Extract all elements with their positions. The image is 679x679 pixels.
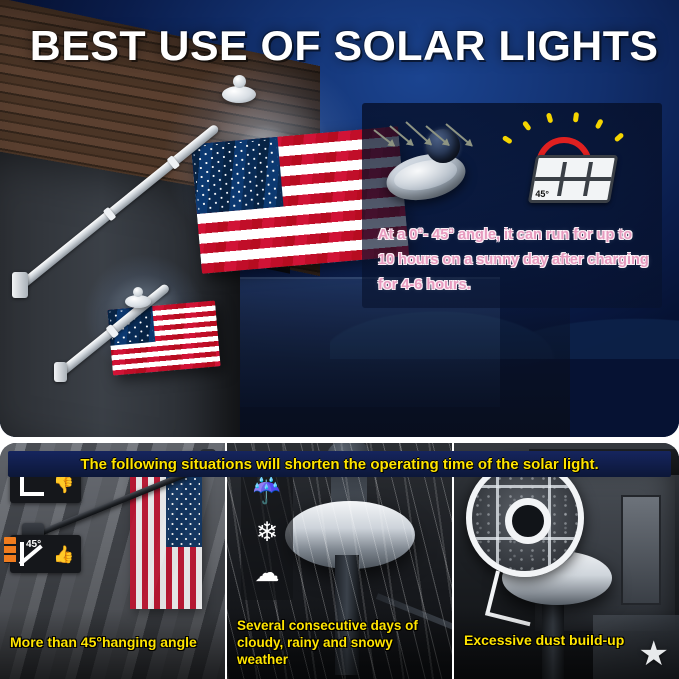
sun-ray: [614, 132, 625, 142]
center-ring: [505, 498, 551, 544]
sun-ray: [502, 135, 513, 145]
warning-banner-text: The following situations will shorten th…: [80, 456, 598, 473]
info-description: At a 0°- 45° angle, it can run for up to…: [378, 223, 650, 298]
hero-section: BEST USE OF SOLAR LIGHTS: [0, 0, 679, 437]
weather-icon-group: ☔ ❄ ☁: [241, 465, 293, 600]
solar-light-head-large: [222, 86, 256, 103]
panel-caption-2-line2: cloudy, rainy and snowy weather: [237, 635, 444, 669]
flag-wave-shading: [107, 300, 220, 375]
panel-caption-2-line1: Several consecutive days of: [237, 618, 444, 635]
panel-angle-label: 45°: [535, 189, 549, 199]
sun-solar-panel-icon: 45°: [512, 115, 632, 207]
solar-light-head-small: [125, 295, 151, 308]
solar-light-disc-icon: [380, 119, 485, 211]
panel-caption-2: Several consecutive days of cloudy, rain…: [237, 618, 444, 669]
situation-panels: 90° 👎 45° 👍 More than 45°hanging angle: [0, 443, 679, 679]
us-flag-small: [107, 300, 220, 375]
thumbs-up-icon: 👍: [53, 546, 74, 563]
panel-caption-3: Excessive dust build-up: [464, 632, 633, 650]
sun-ray: [573, 112, 579, 123]
sun-ray: [595, 118, 604, 129]
cloud-icon: ☁: [255, 561, 280, 586]
panel-dust-buildup: Excessive dust build-up ★: [454, 443, 679, 679]
infographic-page: BEST USE OF SOLAR LIGHTS: [0, 0, 679, 679]
finial-ball: [233, 75, 246, 88]
wall-bracket-small: [54, 362, 67, 382]
warning-banner: The following situations will shorten th…: [8, 451, 671, 477]
finial-ball: [133, 287, 143, 297]
panel-hanging-angle: 90° 👎 45° 👍 More than 45°hanging angle: [0, 443, 225, 679]
badge-45-degree: 45° 👍: [10, 535, 81, 573]
panel-bad-weather: ☔ ❄ ☁ Several consecutive days of cloudy…: [227, 443, 452, 679]
thumbs-down-icon: 👎: [53, 476, 74, 493]
acute-angle-icon: 45°: [17, 540, 47, 568]
wall-bracket-large: [12, 272, 28, 298]
brick-wall-icon: [4, 537, 16, 563]
panel-divider-horizontal: [535, 177, 612, 181]
sun-ray: [546, 112, 554, 123]
page-title: BEST USE OF SOLAR LIGHTS: [30, 22, 662, 70]
panel-caption-1: More than 45°hanging angle: [10, 634, 217, 652]
star-icon: ★: [639, 637, 669, 671]
solar-panel-tilt-icon: 45°: [528, 155, 618, 203]
front-door: [621, 495, 661, 605]
sun-ray-arrow: [373, 129, 395, 147]
rain-cloud-icon: ☔: [251, 479, 282, 504]
info-panel: 45° At a 0°- 45° angle, it can run for u…: [362, 103, 662, 308]
angle-label-45: 45°: [26, 539, 41, 550]
angle-horizontal-line: [20, 492, 44, 496]
snowflake-icon: ❄: [256, 519, 279, 546]
bottom-section: 90° 👎 45° 👍 More than 45°hanging angle: [0, 443, 679, 679]
sun-ray: [522, 120, 532, 131]
